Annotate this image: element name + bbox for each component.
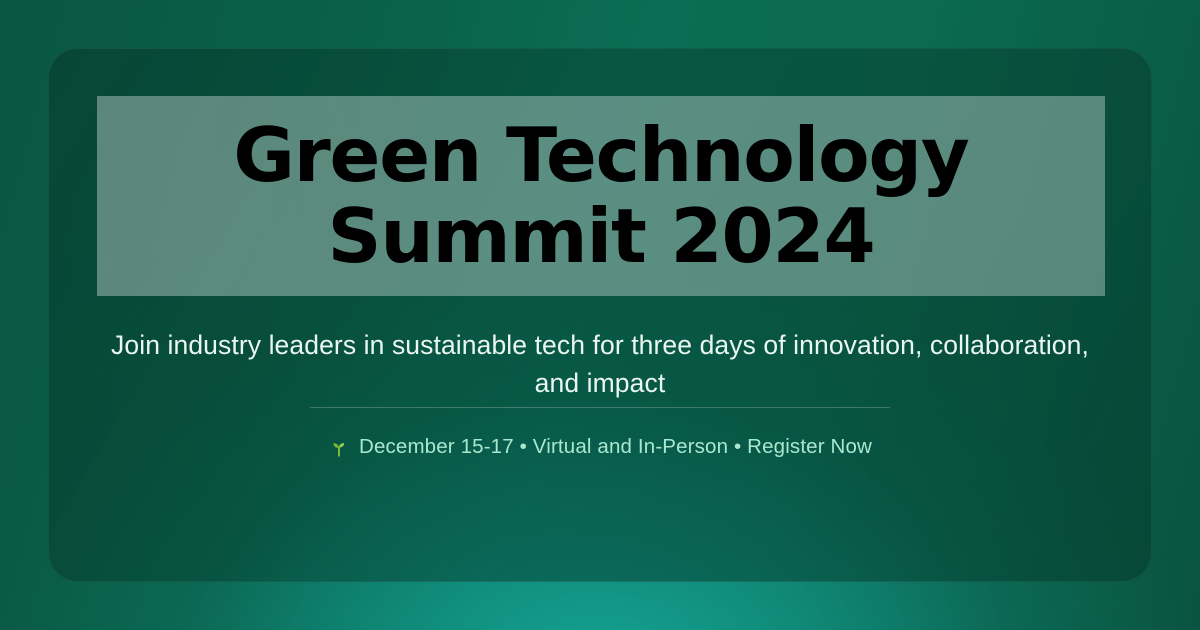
divider	[310, 407, 890, 408]
event-meta-text: December 15-17 • Virtual and In-Person •…	[359, 435, 872, 459]
page-title: Green Technology Summit 2024	[97, 115, 1105, 277]
banner-subtitle: Join industry leaders in sustainable tec…	[94, 327, 1106, 402]
seedling-icon	[328, 437, 350, 459]
title-band: Green Technology Summit 2024	[97, 96, 1105, 296]
event-banner: Green Technology Summit 2024 Join indust…	[0, 0, 1200, 630]
event-meta: December 15-17 • Virtual and In-Person •…	[328, 435, 872, 459]
banner-card: Green Technology Summit 2024 Join indust…	[48, 48, 1152, 582]
